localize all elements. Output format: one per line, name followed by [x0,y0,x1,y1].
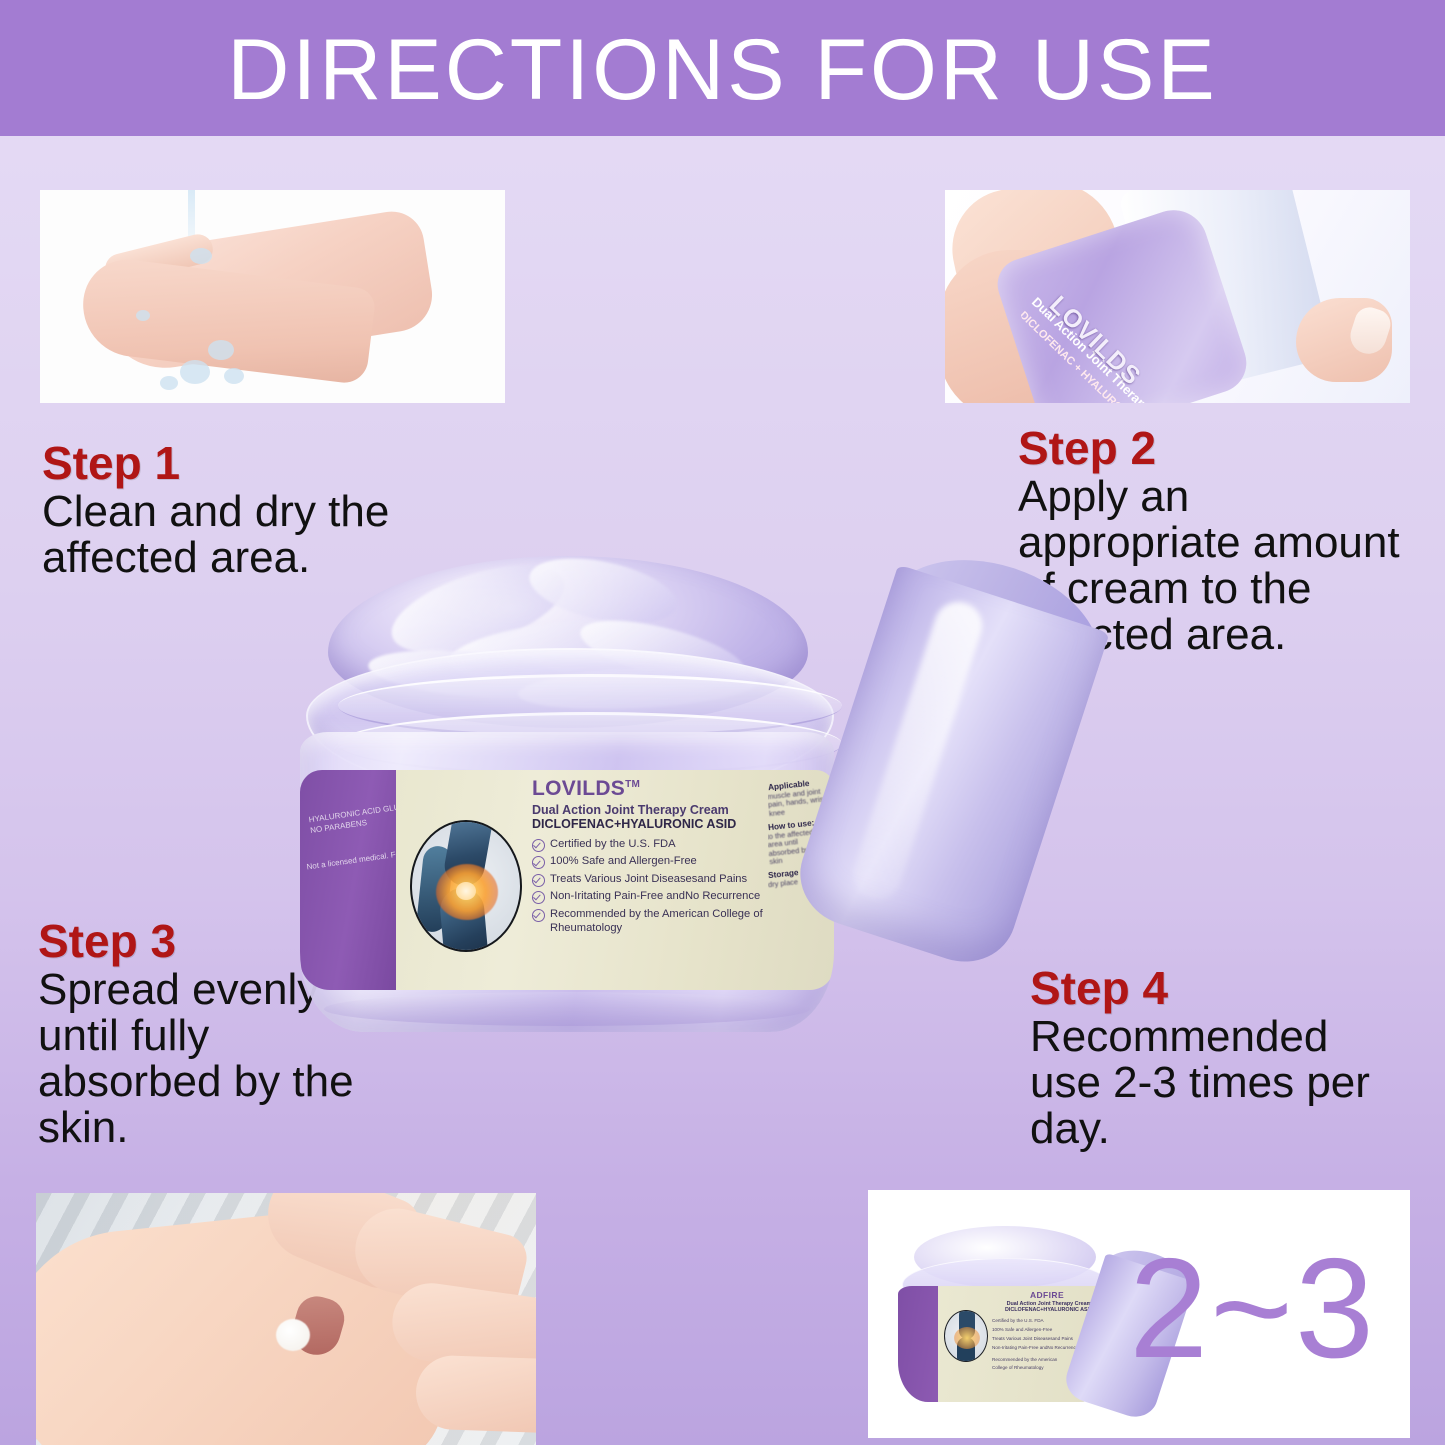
step-4-text: Recommended use 2-3 times per day. [1030,1014,1410,1153]
infographic-page: DIRECTIONS FOR USE Dual [0,0,1445,1445]
frequency-number: 2~3 [1129,1238,1376,1380]
photo-washing-hands [40,190,505,403]
check-icon [532,839,545,852]
label-cream-panel: LOVILDSTM Dual Action Joint Therapy Crea… [396,770,834,990]
product-label: HYALURONIC ACID GLUCOSAMINOSUGAR NO PARA… [300,770,834,990]
header-band: DIRECTIONS FOR USE [0,0,1445,136]
check-icon [532,874,545,887]
step-4: Step 4 Recommended use 2-3 times per day… [1030,965,1410,1152]
bullet-text: Treats Various Joint Diseasesand Pains [550,873,747,887]
mini-bullet: Treats Various Joint Diseasesand Pains [992,1336,1073,1341]
bullet-text: 100% Safe and Allergen-Free [550,855,697,869]
mini-bullet: Recommended by the American [992,1357,1057,1362]
mini-label-band [898,1286,938,1402]
knee-joint-icon [410,820,522,952]
check-icon [532,909,545,922]
bullet-text: Certified by the U.S. FDA [550,838,676,852]
product-jar: HYALURONIC ACID GLUCOSAMINOSUGAR NO PARA… [286,556,856,1036]
step-4-label: Step 4 [1030,965,1410,1012]
mini-bullet: College of Rheumatology [992,1365,1044,1370]
mini-bullet: Certified by the U.S. FDA [992,1318,1044,1323]
label-purple-band: HYALURONIC ACID GLUCOSAMINOSUGAR NO PARA… [300,770,396,990]
bullet-text: Non-Iritating Pain-Free andNo Recurrence [550,890,760,904]
mini-ingredients-text: DICLOFENAC+HYALURONIC ASID [1005,1307,1093,1313]
jar-body: HYALURONIC ACID GLUCOSAMINOSUGAR NO PARA… [300,732,834,1032]
mini-bullet: Non-Iritating Pain-Free andNo Recurrence [992,1345,1078,1350]
mini-product-jar: ADFIRE Dual Action Joint Therapy Cream D… [896,1226,1122,1406]
mini-bullet: 100% Safe and Allergen-Free [992,1327,1052,1332]
check-icon [532,891,545,904]
brand-text: LOVILDS [532,777,625,800]
step-2-label: Step 2 [1018,425,1410,472]
photo-holding-product-jar: Dual Action Joint Therapy Cream LOVILDS … [945,190,1410,403]
check-icon [532,856,545,869]
trademark-symbol: TM [625,779,640,790]
mini-knee-icon [944,1310,988,1362]
page-title: DIRECTIONS FOR USE [227,27,1218,113]
mini-brand-name: ADFIRE [992,1290,1102,1300]
step-1-label: Step 1 [42,440,472,487]
label-band-text-3: Not a licensed medical. For use by [306,846,396,872]
mini-tagline-text: Dual Action Joint Therapy Cream [1007,1301,1092,1307]
photo-applying-cream-to-skin [36,1193,536,1445]
photo-usage-frequency: ADFIRE Dual Action Joint Therapy Cream D… [868,1190,1410,1438]
